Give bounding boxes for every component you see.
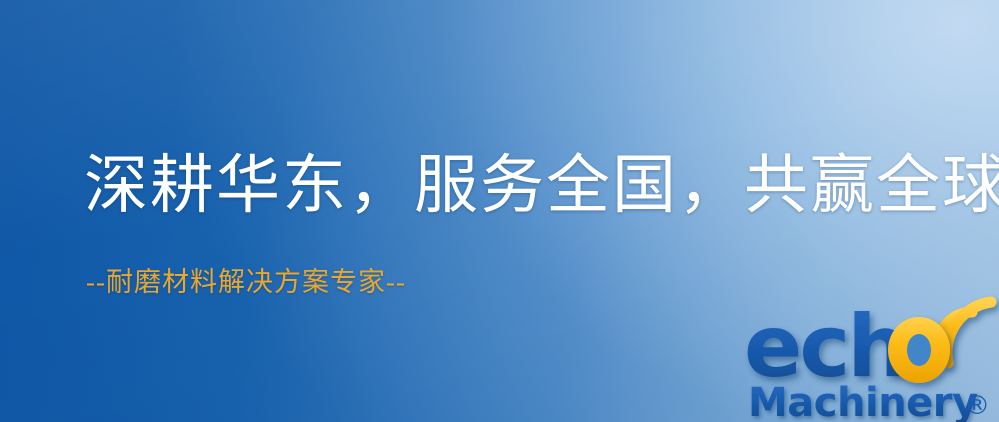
- logo-wordmark-o: [888, 317, 950, 383]
- logo-svg: ech Machinery ®: [742, 288, 999, 422]
- banner-headline: 深耕华东，服务全国，共赢全球: [84, 148, 999, 224]
- logo-registered-mark: ®: [964, 391, 990, 421]
- logo-tagline: Machinery: [748, 380, 978, 422]
- echo-machinery-logo[interactable]: ech Machinery ®: [742, 288, 999, 422]
- hero-banner: 深耕华东，服务全国，共赢全球 --耐磨材料解决方案专家--: [0, 0, 999, 422]
- banner-subheadline: --耐磨材料解决方案专家--: [86, 265, 406, 299]
